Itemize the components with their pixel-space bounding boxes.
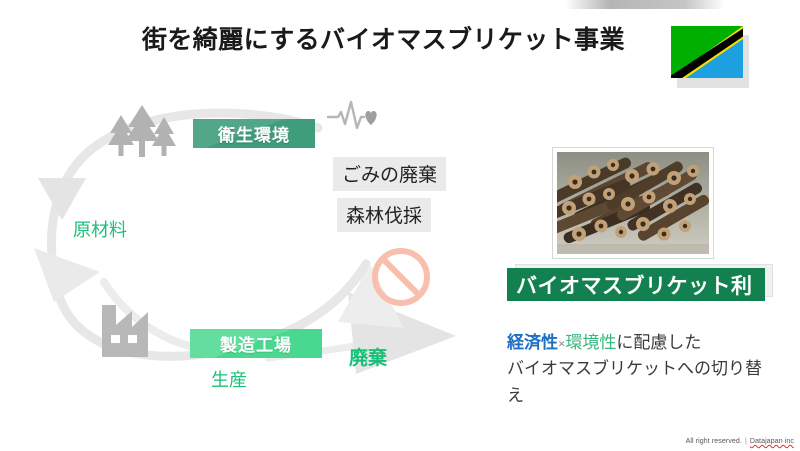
briquette-photo-frame (552, 147, 714, 259)
desc-tail: に配慮した (616, 333, 701, 352)
desc-economy: 経済性 (507, 333, 558, 352)
caption-raw-material: 原材料 (73, 216, 127, 242)
tag-garbage-disposal: ごみの廃棄 (333, 157, 446, 191)
tag-deforestation: 森林伐採 (337, 198, 431, 232)
trees-icon (101, 103, 181, 163)
heartbeat-icon (327, 98, 379, 137)
window-chrome-strip (565, 0, 725, 9)
footer-separator: | (745, 438, 747, 445)
factory-icon (100, 299, 168, 366)
flag-image (671, 26, 743, 78)
product-description: 経済性×環境性に配慮した バイオマスブリケットへの切り替 え (507, 330, 792, 409)
desc-environment: 環境性 (565, 333, 616, 352)
tanzania-flag (671, 26, 749, 88)
prohibition-icon (370, 246, 432, 308)
footer-credits: All right reserved.|Datajapan inc (686, 438, 794, 445)
footer-company: Datajapan inc (750, 438, 794, 445)
caption-disposal: 廃棄 (349, 343, 387, 370)
footer-rights: All right reserved. (686, 438, 742, 445)
desc-line3: え (507, 386, 524, 405)
banner-biomass-briquette: バイオマスブリケット利 (507, 268, 765, 301)
biomass-briquettes-photo (557, 152, 709, 254)
desc-line2: バイオマスブリケットへの切り替 (507, 359, 762, 378)
caption-production: 生産 (211, 366, 247, 392)
label-manufacturing-plant: 製造工場 (190, 329, 322, 358)
label-hygiene-environment: 衛生環境 (193, 119, 315, 148)
page-title: 街を綺麗にするバイオマスブリケット事業 (142, 20, 612, 56)
slide-canvas: 街を綺麗にするバイオマスブリケット事業 (0, 0, 800, 451)
